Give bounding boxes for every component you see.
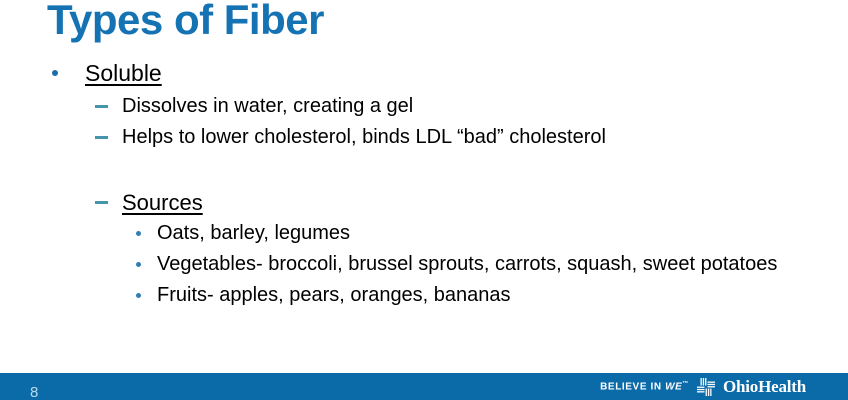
bullet-level2-item: Helps to lower cholesterol, binds LDL “b… [0, 123, 848, 152]
bullet-dot-icon [136, 231, 141, 236]
tagline: BELIEVE IN WE™ [600, 381, 689, 392]
page-title: Types of Fiber [47, 0, 324, 44]
slide-body: Soluble Dissolves in water, creating a g… [0, 58, 848, 312]
bullet-level2-label: Helps to lower cholesterol, binds LDL “b… [122, 126, 606, 148]
slide-canvas: Types of Fiber Soluble Dissolves in wate… [0, 0, 848, 400]
bullet-level3-item: Oats, barley, legumes [0, 219, 848, 248]
footer-bar: 8 BELIEVE IN WE™ [0, 373, 848, 400]
page-number: 8 [30, 385, 38, 400]
brand-lockup: BELIEVE IN WE™ [600, 373, 806, 400]
dash-bullet-icon [95, 105, 108, 108]
dash-bullet-icon [95, 136, 108, 139]
bullet-level2-item: Dissolves in water, creating a gel [0, 92, 848, 121]
bullet-level3-label: Fruits- apples, pears, oranges, bananas [157, 281, 807, 310]
bullet-level3-label: Oats, barley, legumes [157, 219, 807, 248]
bullet-dot-icon [52, 70, 58, 76]
tagline-prefix: BELIEVE IN [600, 381, 665, 392]
bullet-level1-label: Soluble [85, 60, 162, 86]
ohiohealth-wordmark: OhioHealth [723, 377, 806, 397]
bullet-dot-icon [136, 293, 141, 298]
bullet-level2-label: Dissolves in water, creating a gel [122, 95, 413, 117]
ohiohealth-pinwheel-icon [696, 377, 716, 397]
bullet-level2-sources-heading: Sources [0, 188, 848, 217]
tagline-we: WE [665, 381, 682, 392]
bullet-level3-label: Vegetables- broccoli, brussel sprouts, c… [157, 250, 807, 279]
dash-bullet-icon [95, 201, 108, 204]
bullet-level3-item: Fruits- apples, pears, oranges, bananas [0, 281, 848, 310]
section-spacer [0, 154, 848, 188]
sources-heading-label: Sources [122, 190, 203, 215]
bullet-dot-icon [136, 262, 141, 267]
bullet-level1-soluble: Soluble [0, 58, 848, 88]
trademark-symbol: ™ [682, 381, 689, 387]
bullet-level3-item: Vegetables- broccoli, brussel sprouts, c… [0, 250, 848, 279]
